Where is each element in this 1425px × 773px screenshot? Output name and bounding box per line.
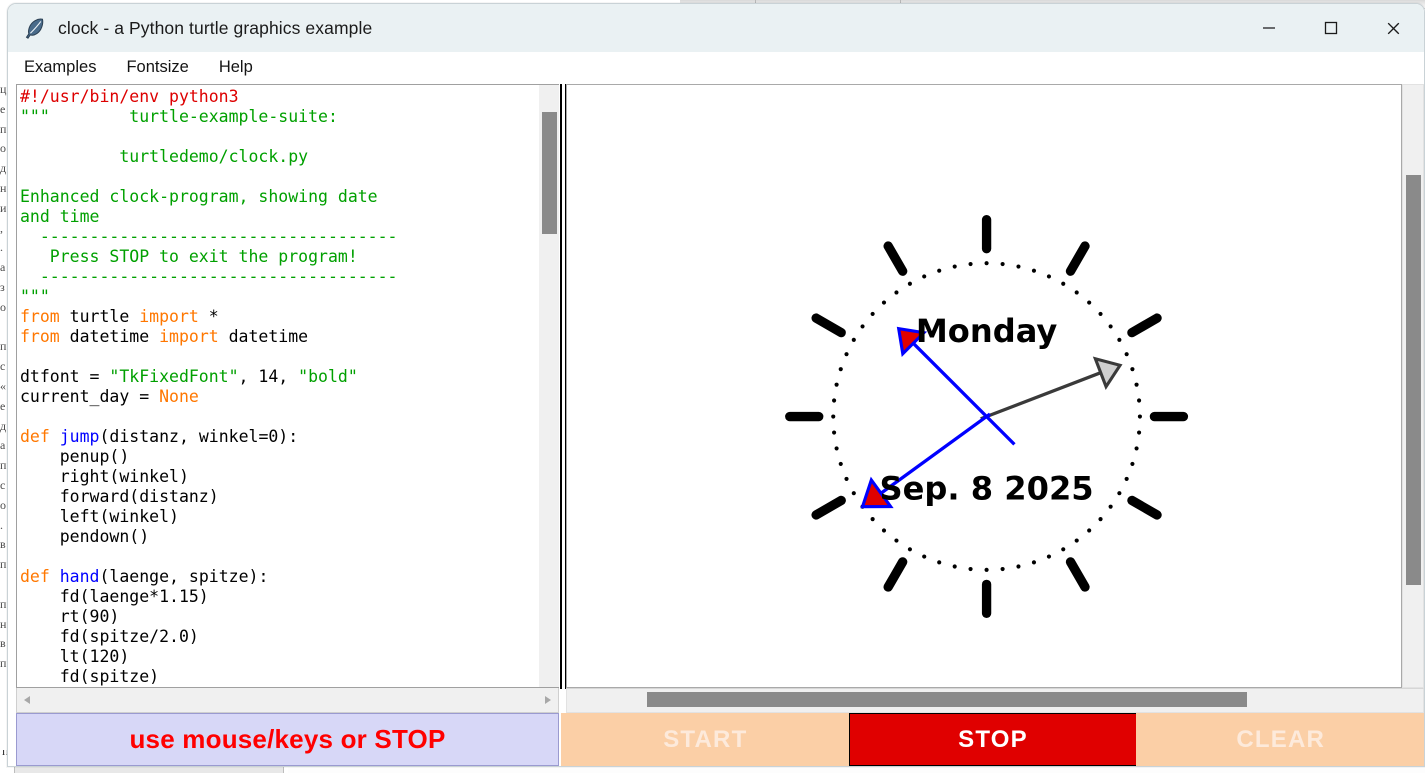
code-line: Press STOP to exit the program! [20,247,538,267]
menu-item-help[interactable]: Help [217,56,255,79]
code-line: fd(spitze/2.0) [20,627,538,647]
code-line: def jump(distanz, winkel=0): [20,427,538,447]
code-line: rt(90) [20,607,538,627]
triangle-left-icon[interactable] [17,694,37,706]
code-line: #!/usr/bin/env python3 [20,87,538,107]
code-line: from turtle import * [20,307,538,327]
code-line: ------------------------------------ [20,267,538,287]
editor-vertical-scrollbar[interactable] [538,85,559,687]
code-line: """ turtle-example-suite: [20,107,538,127]
clear-button[interactable]: CLEAR [1136,713,1425,766]
turtle-canvas[interactable]: Monday Sep. 8 2025 [567,85,1401,688]
stop-button[interactable]: STOP [849,713,1138,766]
code-editor-text[interactable]: #!/usr/bin/env python3""" turtle-example… [17,85,538,687]
code-line: fd(laenge*1.15) [20,587,538,607]
code-editor-frame: #!/usr/bin/env python3""" turtle-example… [16,84,559,688]
status-message: use mouse/keys or STOP [16,713,559,766]
code-line: turtledemo/clock.py [20,147,538,167]
clock-date-label: Sep. 8 2025 [880,469,1094,507]
canvas-horizontal-scrollbar[interactable] [566,688,1424,713]
clock-day-label: Monday [916,312,1058,350]
code-line: current_day = None [20,387,538,407]
window-body: #!/usr/bin/env python3""" turtle-example… [8,84,1424,713]
code-line: Enhanced clock-program, showing date [20,187,538,207]
menu-bar: Examples Fontsize Help [8,52,1424,84]
bottom-bar: use mouse/keys or STOP START STOP CLEAR [8,713,1424,766]
start-button[interactable]: START [561,713,850,766]
code-line: forward(distanz) [20,487,538,507]
editor-horizontal-scrollbar[interactable] [16,688,559,713]
code-line: left(winkel) [20,507,538,527]
code-line: lt(120) [20,647,538,667]
menu-item-examples[interactable]: Examples [22,56,98,79]
title-bar: clock - a Python turtle graphics example [8,4,1424,52]
code-line: and time [20,207,538,227]
maximize-icon[interactable] [1300,4,1362,52]
clock-face [790,220,1184,614]
code-editor-pane: #!/usr/bin/env python3""" turtle-example… [8,84,559,713]
window-title: clock - a Python turtle graphics example [58,18,372,39]
code-line [20,347,538,367]
window-controls [1238,4,1424,52]
close-icon[interactable] [1362,4,1424,52]
canvas-row: Monday Sep. 8 2025 [564,84,1424,688]
code-line [20,167,538,187]
code-line: right(winkel) [20,467,538,487]
editor-vertical-scrollbar-thumb[interactable] [542,112,557,234]
canvas-horizontal-scrollbar-thumb[interactable] [647,692,1247,707]
code-line: ------------------------------------ [20,227,538,247]
code-line [20,547,538,567]
triangle-right-icon[interactable] [538,694,558,706]
second-hand [981,359,1120,419]
turtle-demo-window: clock - a Python turtle graphics example… [7,3,1425,767]
turtle-canvas-frame: Monday Sep. 8 2025 [566,84,1402,688]
code-line: dtfont = "TkFixedFont", 14, "bold" [20,367,538,387]
turtle-canvas-pane: Monday Sep. 8 2025 [564,84,1424,713]
code-line: penup() [20,447,538,467]
code-line: from datetime import datetime [20,327,538,347]
minimize-icon[interactable] [1238,4,1300,52]
code-line [20,127,538,147]
feather-icon [22,15,48,41]
code-line [20,407,538,427]
code-line: def hand(laenge, spitze): [20,567,538,587]
canvas-vertical-scrollbar-thumb[interactable] [1406,175,1421,585]
code-line: """ [20,287,538,307]
code-line: fd(spitze) [20,667,538,687]
canvas-vertical-scrollbar[interactable] [1402,84,1424,688]
command-button-row: START STOP CLEAR [561,713,1424,766]
code-line: pendown() [20,527,538,547]
menu-item-fontsize[interactable]: Fontsize [124,56,190,79]
